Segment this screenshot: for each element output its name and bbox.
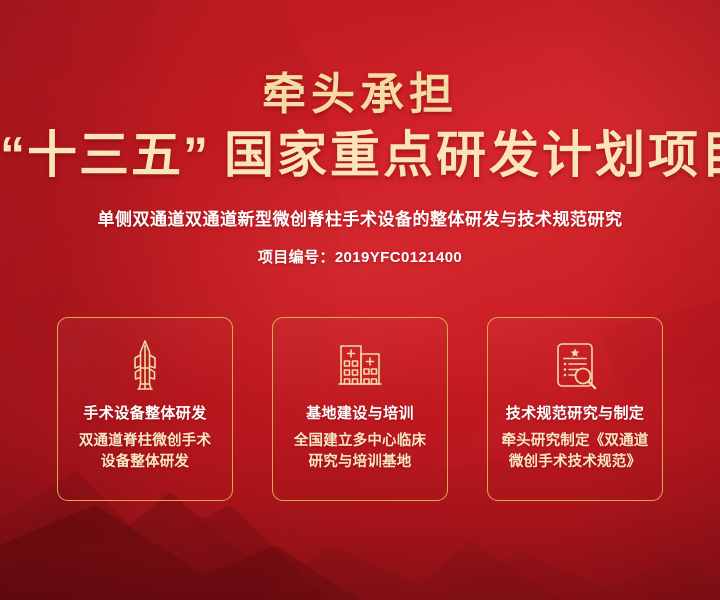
card-body-line-2: 设备整体研发 xyxy=(65,452,225,473)
headline-quoted-term: “十三五” xyxy=(0,127,210,183)
card-body-line-1: 双通道脊柱微创手术 xyxy=(65,431,225,452)
card-title: 技术规范研究与制定 xyxy=(506,402,645,423)
headline-rest-term: 国家重点研发计划项目 xyxy=(224,127,720,183)
card-body-line-1: 牵头研究制定《双通道 xyxy=(495,431,655,452)
feature-card-base-training[interactable]: 基地建设与培训 全国建立多中心临床 研究与培训基地 xyxy=(272,317,448,501)
feature-card-equipment-rnd[interactable]: 手术设备整体研发 双通道脊柱微创手术 设备整体研发 xyxy=(57,317,233,501)
card-body: 全国建立多中心临床 研究与培训基地 xyxy=(280,431,440,472)
rocket-icon xyxy=(118,338,172,392)
document-magnifier-icon xyxy=(548,338,602,392)
feature-cards: 手术设备整体研发 双通道脊柱微创手术 设备整体研发 xyxy=(57,317,663,501)
headline-line-2: “十三五”国家重点研发计划项目 xyxy=(0,128,720,182)
headline-line-1: 牵头承担 xyxy=(0,72,720,118)
subtitle-block: 单侧双通道双通道新型微创脊柱手术设备的整体研发与技术规范研究 项目编号：2019… xyxy=(0,208,720,267)
card-body-line-2: 研究与培训基地 xyxy=(280,452,440,473)
hospital-building-icon xyxy=(333,338,387,392)
card-body: 牵头研究制定《双通道 微创手术技术规范》 xyxy=(495,431,655,472)
card-body: 双通道脊柱微创手术 设备整体研发 xyxy=(65,431,225,472)
project-number: 项目编号：2019YFC0121400 xyxy=(0,246,720,267)
card-body-line-1: 全国建立多中心临床 xyxy=(280,431,440,452)
card-title: 基地建设与培训 xyxy=(306,402,414,423)
card-title: 手术设备整体研发 xyxy=(83,402,206,423)
poster-banner: 牵头承担 “十三五”国家重点研发计划项目 单侧双通道双通道新型微创脊柱手术设备的… xyxy=(0,0,720,600)
card-body-line-2: 微创手术技术规范》 xyxy=(495,452,655,473)
feature-card-standards[interactable]: 技术规范研究与制定 牵头研究制定《双通道 微创手术技术规范》 xyxy=(487,317,663,501)
project-subtitle: 单侧双通道双通道新型微创脊柱手术设备的整体研发与技术规范研究 xyxy=(0,208,720,232)
headline-block: 牵头承担 “十三五”国家重点研发计划项目 xyxy=(0,72,720,182)
